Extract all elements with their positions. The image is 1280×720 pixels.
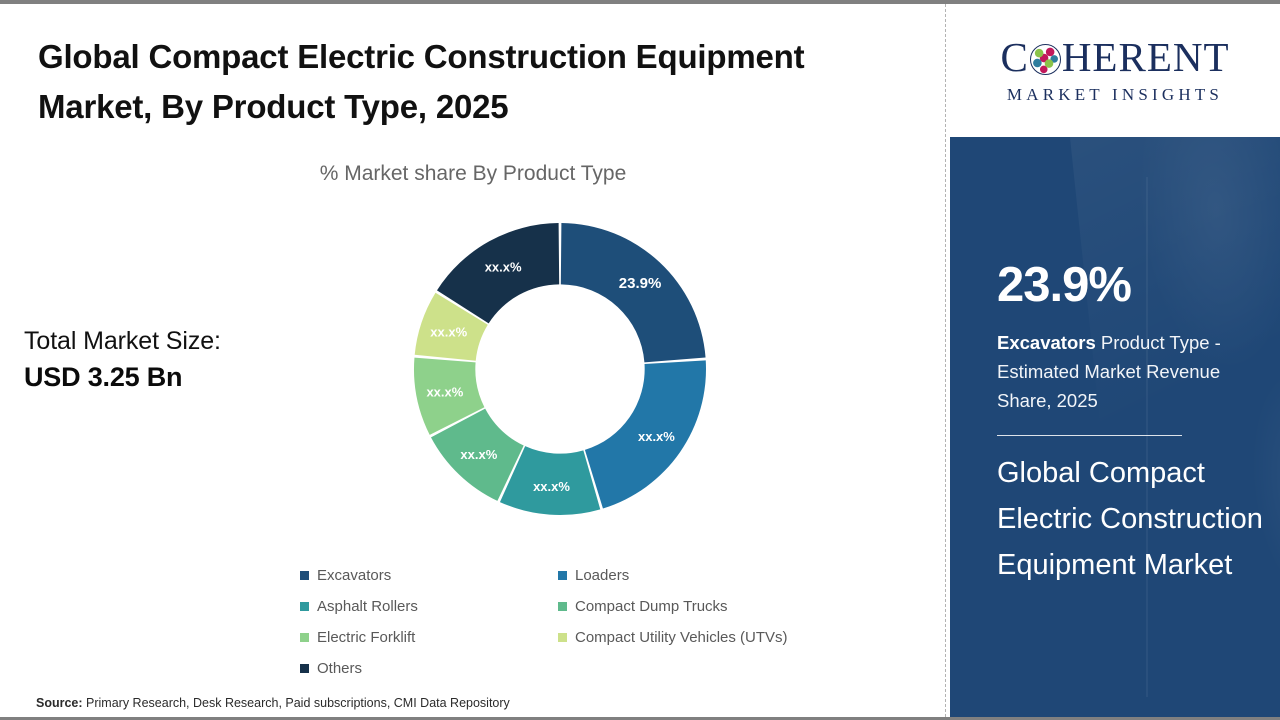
panel-divider <box>945 4 946 717</box>
donut-slice-label: xx.x% <box>426 385 463 400</box>
donut-slice-label: xx.x% <box>430 325 467 340</box>
left-content-panel: Global Compact Electric Construction Equ… <box>0 4 946 717</box>
logo-tagline: MARKET INSIGHTS <box>1007 85 1223 105</box>
total-market-size-block: Total Market Size: USD 3.25 Bn <box>24 324 314 396</box>
total-market-size-label: Total Market Size: <box>24 324 314 358</box>
legend-item-label: Asphalt Rollers <box>317 598 418 615</box>
donut-slice-label: xx.x% <box>638 429 675 444</box>
legend-item[interactable]: Compact Dump Trucks <box>558 591 788 622</box>
legend-swatch-icon <box>300 571 309 580</box>
legend-item-label: Loaders <box>575 567 629 584</box>
total-market-size-value: USD 3.25 Bn <box>24 358 314 396</box>
stat-divider <box>997 435 1182 436</box>
donut-slice-group <box>414 223 706 515</box>
company-logo: C HERENT MARKET INSIGHTS <box>950 4 1280 137</box>
legend-swatch-icon <box>558 602 567 611</box>
donut-slice-label: xx.x% <box>533 479 570 494</box>
panel-market-name: Global Compact Electric Construction Equ… <box>997 450 1265 588</box>
legend-swatch-icon <box>558 571 567 580</box>
logo-letters-herent: HERENT <box>1062 37 1230 78</box>
legend-item-label: Excavators <box>317 567 391 584</box>
legend-item-label: Compact Dump Trucks <box>575 598 728 615</box>
stat-description: Excavators Product Type - Estimated Mark… <box>997 328 1259 415</box>
legend-item[interactable]: Excavators <box>300 560 418 591</box>
donut-chart: 23.9%xx.x%xx.x%xx.x%xx.x%xx.x%xx.x% <box>410 219 710 519</box>
page-title: Global Compact Electric Construction Equ… <box>38 32 918 132</box>
legend-item[interactable]: Asphalt Rollers <box>300 591 418 622</box>
right-sidebar-panel: C HERENT MARKET INSIGHTS 23.9% Excavator… <box>950 4 1280 717</box>
legend-item[interactable]: Compact Utility Vehicles (UTVs) <box>558 622 788 653</box>
legend-swatch-icon <box>558 633 567 642</box>
logo-letter-c: C <box>1000 37 1028 78</box>
legend-swatch-icon <box>300 633 309 642</box>
donut-slice-label: xx.x% <box>460 447 497 462</box>
legend-item[interactable]: Loaders <box>558 560 788 591</box>
legend-swatch-icon <box>300 602 309 611</box>
source-line: Source: Primary Research, Desk Research,… <box>36 696 510 710</box>
source-text: Primary Research, Desk Research, Paid su… <box>86 696 510 710</box>
legend-item-label: Electric Forklift <box>317 629 415 646</box>
logo-wordmark: C HERENT <box>1000 37 1229 78</box>
legend-swatch-icon <box>300 664 309 673</box>
source-label: Source: <box>36 696 83 710</box>
chart-subtitle: % Market share By Product Type <box>0 162 946 186</box>
donut-chart-svg: 23.9%xx.x%xx.x%xx.x%xx.x%xx.x%xx.x% <box>410 219 710 519</box>
donut-slice <box>561 223 706 362</box>
stat-highlight-term: Excavators <box>997 332 1096 353</box>
globe-icon <box>1030 44 1061 75</box>
legend-item[interactable]: Others <box>300 653 418 684</box>
infographic-page: Global Compact Electric Construction Equ… <box>0 0 1280 720</box>
donut-slice-label: 23.9% <box>619 275 662 292</box>
legend-item[interactable]: Electric Forklift <box>300 622 418 653</box>
stat-share-value: 23.9% <box>997 261 1131 310</box>
legend-column-left: ExcavatorsAsphalt RollersElectric Forkli… <box>300 560 418 684</box>
legend-column-right: LoadersCompact Dump TrucksCompact Utilit… <box>558 560 788 653</box>
donut-slice-label: xx.x% <box>485 259 522 274</box>
legend-item-label: Others <box>317 660 362 677</box>
highlight-stat-panel: 23.9% Excavators Product Type - Estimate… <box>950 137 1280 717</box>
legend-item-label: Compact Utility Vehicles (UTVs) <box>575 629 788 646</box>
